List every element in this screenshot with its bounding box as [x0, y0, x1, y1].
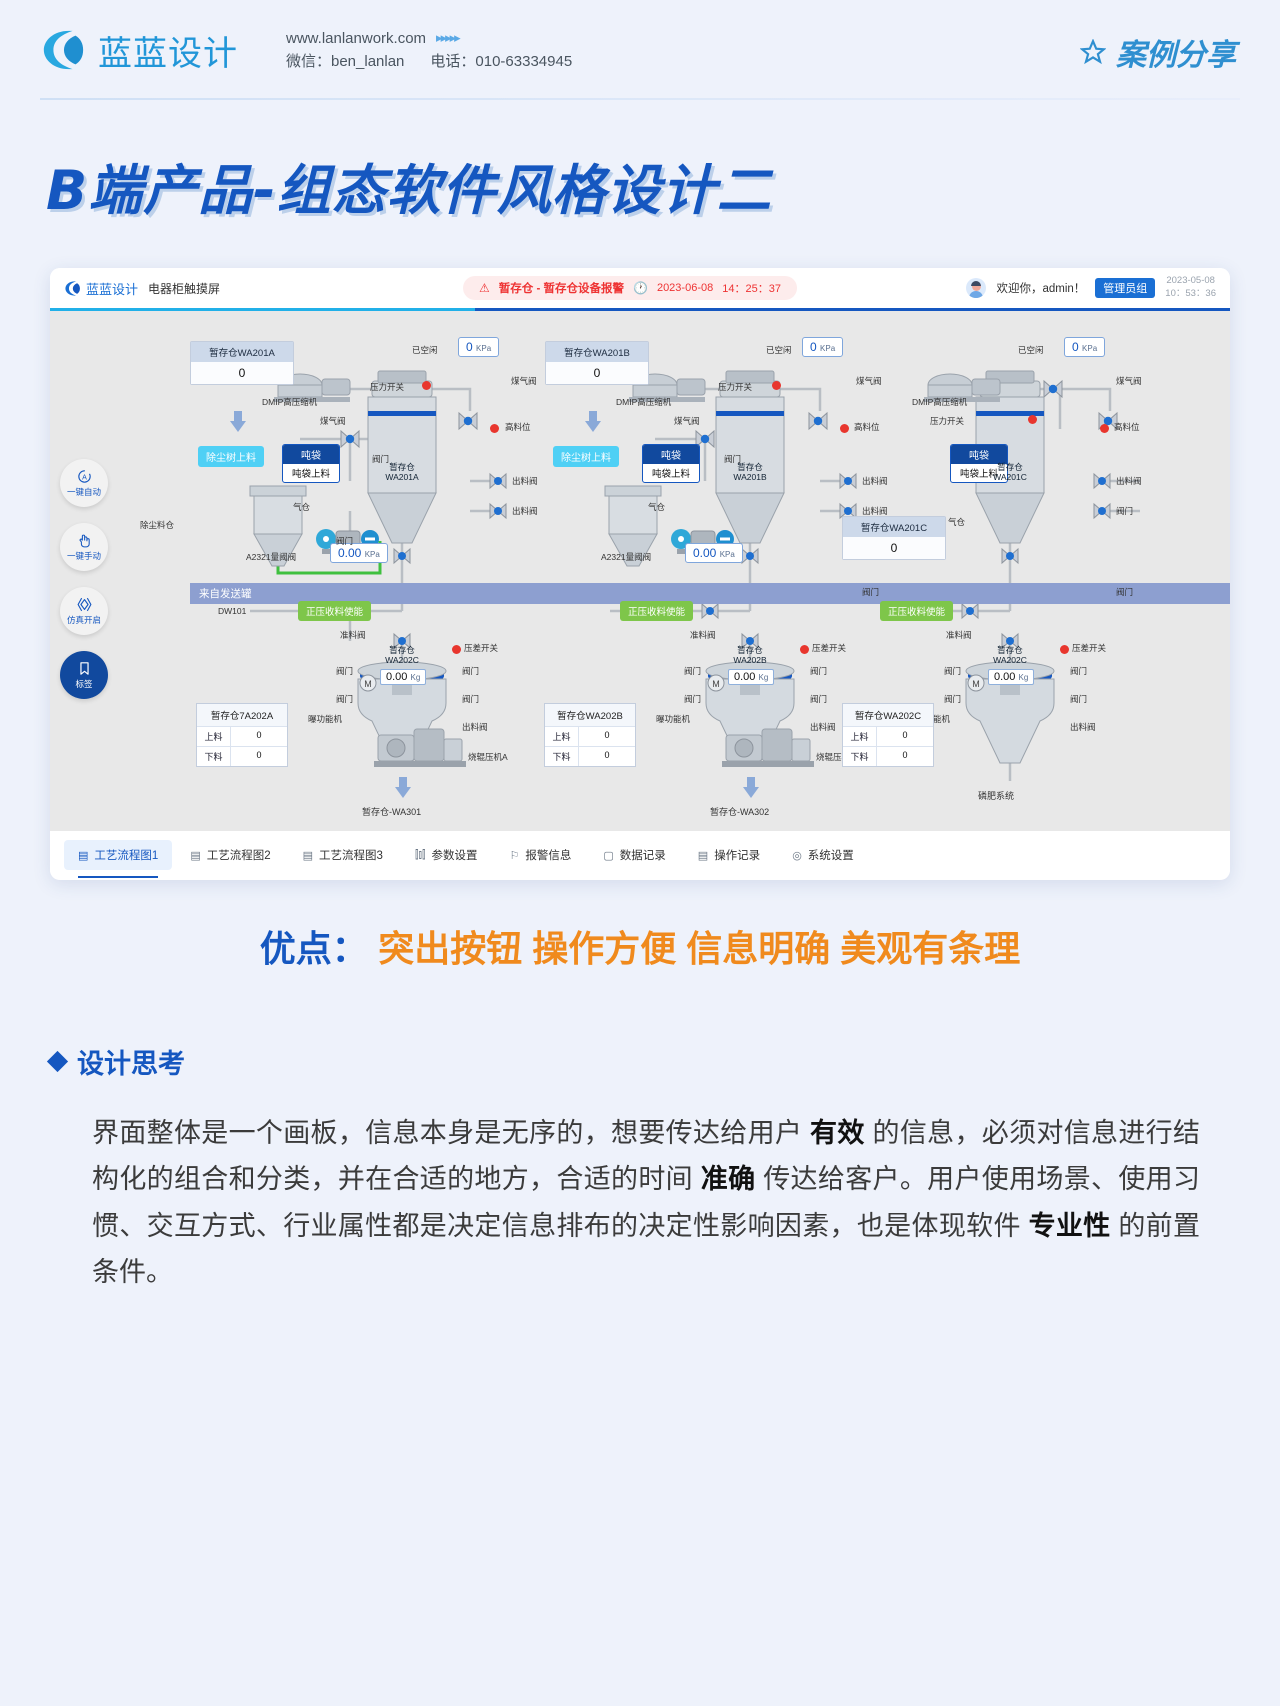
- app-header-right: 欢迎你，admin！ 管理员组 2023-05-08 10：53：36: [966, 275, 1216, 301]
- high-level-dot-a: [490, 424, 499, 433]
- arrows-icon: ▸▸▸▸▸: [436, 28, 459, 48]
- brand: 蓝蓝设计: [40, 26, 238, 75]
- avatar[interactable]: [966, 278, 986, 298]
- reactor-weight-a[interactable]: 0.00 Kg: [380, 669, 426, 685]
- valve-l2-a: 阀门: [336, 693, 353, 705]
- bottom-label-a: 暂存仓-WA301: [362, 805, 421, 818]
- feed-table-b-title: 暂存仓WA202B: [545, 704, 635, 727]
- flow-arrow-b: [585, 411, 601, 432]
- flow-icon: ▤: [78, 849, 88, 862]
- valve-r1-b: 阀门: [810, 665, 827, 677]
- feed-table-b[interactable]: 暂存仓WA202B 上料0 下料0: [544, 703, 636, 767]
- valve-left-a: 阀门: [336, 535, 353, 547]
- compressor-label-b: DMIP高压缩机: [616, 396, 671, 408]
- tab-operation-log-label: 操作记录: [714, 847, 760, 863]
- tank-name-b: 暂存仓 WA201B: [733, 463, 766, 483]
- valve-l1-c: 阀门: [944, 665, 961, 677]
- feed-table-c[interactable]: 暂存仓WA202C 上料0 下料0: [842, 703, 934, 767]
- app-logo-icon: [64, 280, 81, 297]
- design-thinking-title: 设计思考: [77, 1042, 185, 1081]
- feed-table-c-v1: 0: [877, 747, 933, 766]
- feed-table-a-v1: 0: [231, 747, 287, 766]
- bottom-label-b: 暂存仓-WA302: [710, 805, 769, 818]
- sliders-icon: ⫿⫾⫿: [415, 849, 426, 862]
- tab-flow-2-label: 工艺流程图2: [207, 847, 271, 863]
- meter-valve-a: A2321量阈阀: [246, 551, 296, 563]
- hand-icon: [76, 532, 93, 549]
- brand-name: 蓝蓝设计: [98, 26, 238, 75]
- reactor-name-b: 暂存仓 WA202B: [733, 646, 766, 666]
- pressure-switch-b: 压力开关: [718, 381, 752, 393]
- gas-valve-top-b: 煤气阀: [674, 415, 700, 427]
- diff-switch-dot-a: [452, 645, 461, 654]
- auto-mode-label: 一键自动: [67, 486, 101, 498]
- clock-icon: 🕐: [633, 281, 648, 295]
- diff-switch-dot-c: [1060, 645, 1069, 654]
- pressure-alarm-dot-b: [772, 381, 781, 390]
- discharge-out-a: 出料阀: [462, 721, 488, 733]
- svg-text:M: M: [364, 679, 372, 689]
- bin-panel-c[interactable]: 暂存仓WA201C 0: [842, 516, 946, 560]
- valve-l2-c: 阀门: [944, 693, 961, 705]
- svg-text:A: A: [82, 473, 87, 481]
- discharge2-a: 出料阀: [512, 505, 538, 517]
- reactor-weight-b[interactable]: 0.00 Kg: [728, 669, 774, 685]
- tab-alarms[interactable]: ⚐ 报警信息: [496, 840, 586, 870]
- case-share-label: 案例分享: [1116, 30, 1236, 74]
- tab-flow-3-label: 工艺流程图3: [319, 847, 383, 863]
- case-share: 案例分享: [1080, 30, 1236, 74]
- valve-l2-b: 阀门: [684, 693, 701, 705]
- reactor-weight-c[interactable]: 0.00 Kg: [988, 669, 1034, 685]
- alarm-icon: ⚐: [510, 849, 520, 862]
- diff-switch-c: 压差开关: [1072, 642, 1106, 654]
- dust-feed-button-b[interactable]: 除尘树上料: [553, 446, 619, 467]
- gear-icon: ◎: [792, 849, 802, 862]
- discharge-out-b: 出料阀: [810, 721, 836, 733]
- out-arrow-b: [743, 777, 759, 798]
- air-bin-b: 气仓: [648, 501, 665, 513]
- kpa-mid-b[interactable]: 0.00 KPa: [685, 543, 743, 563]
- app-logo: 蓝蓝设计: [64, 279, 138, 298]
- feed-code-a: DW101: [218, 606, 246, 616]
- bin-panel-a-title: 暂存仓WA201A: [191, 342, 293, 362]
- design-thinking-header: 设计思考: [50, 1042, 185, 1081]
- high-level-dot-c: [1100, 424, 1109, 433]
- flow-arrow-a: [230, 411, 246, 432]
- kpa-mid-a-unit: KPa: [365, 550, 380, 559]
- bin-panel-a[interactable]: 暂存仓WA201A 0: [190, 341, 294, 385]
- out-arrow-a: [395, 777, 411, 798]
- page-title: B端产品-组态软件风格设计二: [46, 146, 1280, 225]
- pressure-alarm-dot-a: [422, 381, 431, 390]
- auto-mode-button[interactable]: A 一键自动: [60, 459, 108, 507]
- feed-table-b-v1: 0: [579, 747, 635, 766]
- valve-label-c: 阀门: [1116, 505, 1133, 517]
- bookmark-icon: [76, 660, 93, 677]
- bin-panel-a-value: 0: [191, 362, 293, 384]
- kpa-top-a-unit: KPa: [476, 344, 491, 353]
- diff-switch-dot-b: [800, 645, 809, 654]
- warning-icon: ⚠: [479, 281, 490, 295]
- high-level-a: 高料位: [505, 421, 531, 433]
- bin-panel-b-title: 暂存仓WA201B: [546, 342, 648, 362]
- lanlan-logo-icon: [40, 27, 86, 73]
- manual-mode-button[interactable]: 一键手动: [60, 523, 108, 571]
- compressor-label-c: DMIP高压缩机: [912, 396, 967, 408]
- feed-table-c-k1: 下料: [843, 747, 877, 766]
- motor-label-b: 曝功能机: [656, 713, 690, 725]
- thinking-b3: 专业性: [1029, 1211, 1111, 1241]
- feed-table-b-k0: 上料: [545, 727, 579, 746]
- discharge1-a: 出料阀: [512, 475, 538, 487]
- idle-label-b: 已空闲: [766, 344, 792, 356]
- ready-valve-b: 准料阀: [690, 629, 716, 641]
- discharge1-c: 出料阀: [1116, 475, 1142, 487]
- advantages-key: 优点：: [260, 928, 368, 969]
- app-screenshot-card: 蓝蓝设计 电器柜触摸屏 ⚠ 暂存仓 - 暂存仓设备报警 🕐 2023-06-08…: [50, 268, 1230, 880]
- welcome-text: 欢迎你，admin！: [996, 280, 1085, 296]
- phone: 电话：010-63334945: [430, 50, 572, 73]
- pressure-alarm-dot-c: [1028, 415, 1037, 424]
- tab-flow-1[interactable]: ▤ 工艺流程图1: [64, 840, 172, 870]
- valve-r2-b: 阀门: [810, 693, 827, 705]
- valve-r1-c: 阀门: [1070, 665, 1087, 677]
- kpa-top-b[interactable]: 0 KPa: [802, 337, 843, 357]
- diff-switch-b: 压差开关: [812, 642, 846, 654]
- dust-feed-button-a[interactable]: 除尘树上料: [198, 446, 264, 467]
- valve-r1-a: 阀门: [462, 665, 479, 677]
- tab-system-settings-label: 系统设置: [808, 847, 854, 863]
- valve-l1-b: 阀门: [684, 665, 701, 677]
- header-divider: [40, 98, 1240, 100]
- design-thinking-body: 界面整体是一个画板，信息本身是无序的，想要传达给用户 有效 的信息，必须对信息进…: [92, 1110, 1200, 1296]
- valve-l1-a: 阀门: [336, 665, 353, 677]
- discharge1-b: 出料阀: [862, 475, 888, 487]
- tab-parameters[interactable]: ⫿⫾⫿ 参数设置: [401, 840, 492, 870]
- tonbag-title-a: 吨袋: [283, 445, 339, 464]
- valve-r2-c: 阀门: [1070, 693, 1087, 705]
- dust-silo-graphic: [250, 486, 661, 566]
- air-bin-a: 气仓: [293, 501, 310, 513]
- press-machine-a: 烧辊压机A: [468, 751, 508, 763]
- gas-valve-top-a: 煤气阀: [320, 415, 346, 427]
- feed-table-a[interactable]: 暂存仓7A202A 上料0 下料0: [196, 703, 288, 767]
- tab-system-settings[interactable]: ◎ 系统设置: [778, 840, 868, 870]
- simulation-button[interactable]: 仿真开启: [60, 587, 108, 635]
- motor-icon: M M M: [360, 675, 984, 691]
- kpa-mid-a-value: 0.00: [338, 546, 361, 560]
- thinking-b2: 准确: [701, 1164, 756, 1194]
- feed-table-a-k0: 上料: [197, 727, 231, 746]
- system-clock: 2023-05-08 10：53：36: [1165, 275, 1216, 301]
- air-bin-c: 气仓: [948, 516, 965, 528]
- gas-valve-b: 煤气阀: [856, 375, 882, 387]
- valve-right-c: 阀门: [1116, 586, 1133, 598]
- side-toolbar[interactable]: A 一键自动 一键手动 仿真开启 标签: [60, 459, 108, 699]
- advantages-row: 优点： 突出按钮 操作方便 信息明确 美观有条理: [0, 920, 1280, 972]
- app-logo-text: 蓝蓝设计: [86, 279, 138, 298]
- positive-pressure-c[interactable]: 正压收料使能: [880, 601, 953, 621]
- bin-panel-c-title: 暂存仓WA201C: [843, 517, 945, 537]
- meter-valve-b: A2321量阈阀: [601, 551, 651, 563]
- tank-name-c: 暂存仓 WA201C: [993, 463, 1027, 483]
- positive-pressure-a[interactable]: 正压收料使能: [298, 601, 371, 621]
- tonbag-control-a[interactable]: 吨袋 吨袋上料: [282, 444, 340, 483]
- kpa-top-c[interactable]: 0 KPa: [1064, 337, 1105, 357]
- tonbag-sub-b: 吨袋上料: [643, 464, 699, 482]
- bin-panel-c-value: 0: [843, 537, 945, 559]
- feed-table-a-title: 暂存仓7A202A: [197, 704, 287, 727]
- auto-circle-icon: A: [76, 468, 93, 485]
- tab-data-log[interactable]: ▢ 数据记录: [589, 840, 679, 870]
- svg-text:M: M: [712, 679, 720, 689]
- idle-label-c: 已空闲: [1018, 344, 1044, 356]
- gas-valve-c: 煤气阀: [1116, 375, 1142, 387]
- bin-panel-b[interactable]: 暂存仓WA201B 0: [545, 341, 649, 385]
- kpa-top-a-value: 0: [466, 340, 473, 354]
- reactor-name-a: 暂存仓 WA202C: [385, 646, 419, 666]
- clock-date: 2023-05-08: [1166, 275, 1215, 286]
- svg-text:M: M: [972, 679, 980, 689]
- valve-right-b: 阀门: [862, 586, 879, 598]
- tab-parameters-label: 参数设置: [432, 847, 478, 863]
- positive-pressure-b[interactable]: 正压收料使能: [620, 601, 693, 621]
- high-level-b: 高料位: [854, 421, 880, 433]
- tab-alarms-label: 报警信息: [525, 847, 571, 863]
- high-level-c: 高料位: [1114, 421, 1140, 433]
- tab-data-log-label: 数据记录: [620, 847, 666, 863]
- feed-table-c-k0: 上料: [843, 727, 877, 746]
- app-subtitle: 电器柜触摸屏: [148, 280, 220, 297]
- alert-time: 14：25：37: [722, 280, 781, 296]
- reactor-name-c: 暂存仓 WA202C: [993, 646, 1027, 666]
- bin-panel-b-value: 0: [546, 362, 648, 384]
- tag-button[interactable]: 标签: [60, 651, 108, 699]
- simulation-icon: [76, 596, 93, 613]
- ready-valve-c: 准料阀: [946, 629, 972, 641]
- alert-date: 2023-06-08: [657, 282, 713, 294]
- kpa-top-a[interactable]: 0 KPa: [458, 337, 499, 357]
- ready-valve-a: 准料阀: [340, 629, 366, 641]
- idle-label-a: 已空闲: [412, 344, 438, 356]
- valve-r2-a: 阀门: [462, 693, 479, 705]
- tonbag-sub-a: 吨袋上料: [283, 464, 339, 482]
- bottom-label-c: 磷肥系统: [978, 789, 1014, 802]
- tab-flow-3[interactable]: ▤ 工艺流程图3: [289, 840, 397, 870]
- diamond-icon: [47, 1051, 68, 1072]
- contact-info: www.lanlanwork.com ▸▸▸▸▸ 微信：ben_lanlan 电…: [286, 27, 572, 74]
- motor-label-a: 曝功能机: [308, 713, 342, 725]
- feed-table-b-k1: 下料: [545, 747, 579, 766]
- log-icon: ▤: [698, 849, 708, 862]
- pressure-switch-c: 压力开关: [930, 415, 964, 427]
- simulation-label: 仿真开启: [67, 614, 101, 626]
- diff-switch-a: 压差开关: [464, 642, 498, 654]
- pressure-switch-a: 压力开关: [370, 381, 404, 393]
- feed-table-c-v0: 0: [877, 727, 933, 746]
- tonbag-control-b[interactable]: 吨袋 吨袋上料: [642, 444, 700, 483]
- tag-label: 标签: [75, 678, 92, 690]
- flow-icon: ▤: [303, 849, 313, 862]
- high-level-dot-b: [840, 424, 849, 433]
- tab-operation-log[interactable]: ▤ 操作记录: [684, 840, 774, 870]
- star-icon: [1080, 39, 1106, 65]
- tank-name-a: 暂存仓 WA201A: [385, 463, 418, 483]
- clock-time: 10：53：36: [1165, 288, 1216, 299]
- tonbag-title-b: 吨袋: [643, 445, 699, 464]
- process-diagram-canvas[interactable]: M M M A 一键自动 一键手动: [50, 311, 1230, 831]
- tab-flow-1-label: 工艺流程图1: [94, 847, 158, 863]
- feed-table-a-k1: 下料: [197, 747, 231, 766]
- website: www.lanlanwork.com: [286, 27, 426, 50]
- compressor-label-a: DMIP高压缩机: [262, 396, 317, 408]
- bottom-tabbar[interactable]: ▤ 工艺流程图1 ▤ 工艺流程图2 ▤ 工艺流程图3 ⫿⫾⫿ 参数设置 ⚐ 报警…: [50, 831, 1230, 879]
- page-header: 蓝蓝设计 www.lanlanwork.com ▸▸▸▸▸ 微信：ben_lan…: [0, 0, 1280, 100]
- flow-icon: ▤: [190, 849, 200, 862]
- manual-mode-label: 一键手动: [67, 550, 101, 562]
- feed-table-c-title: 暂存仓WA202C: [843, 704, 933, 727]
- thinking-p1: 界面整体是一个画板，信息本身是无序的，想要传达给用户: [92, 1118, 810, 1148]
- tab-flow-2[interactable]: ▤ 工艺流程图2: [176, 840, 284, 870]
- advantages-value: 突出按钮 操作方便 信息明确 美观有条理: [378, 928, 1020, 969]
- alert-text: 暂存仓 - 暂存仓设备报警: [499, 280, 624, 296]
- app-header: 蓝蓝设计 电器柜触摸屏 ⚠ 暂存仓 - 暂存仓设备报警 🕐 2023-06-08…: [50, 268, 1230, 308]
- discharge-out-c: 出料阀: [1070, 721, 1096, 733]
- data-icon: ▢: [603, 849, 613, 862]
- gas-valve-a: 煤气阀: [511, 375, 537, 387]
- role-badge: 管理员组: [1095, 278, 1155, 298]
- alert-banner[interactable]: ⚠ 暂存仓 - 暂存仓设备报警 🕐 2023-06-08 14：25：37: [463, 276, 797, 300]
- thinking-b1: 有效: [810, 1118, 865, 1148]
- feed-table-b-v0: 0: [579, 727, 635, 746]
- wechat: 微信：ben_lanlan: [286, 50, 404, 73]
- dust-silo-a: 除尘料仓: [140, 519, 174, 531]
- feed-table-a-v0: 0: [231, 727, 287, 746]
